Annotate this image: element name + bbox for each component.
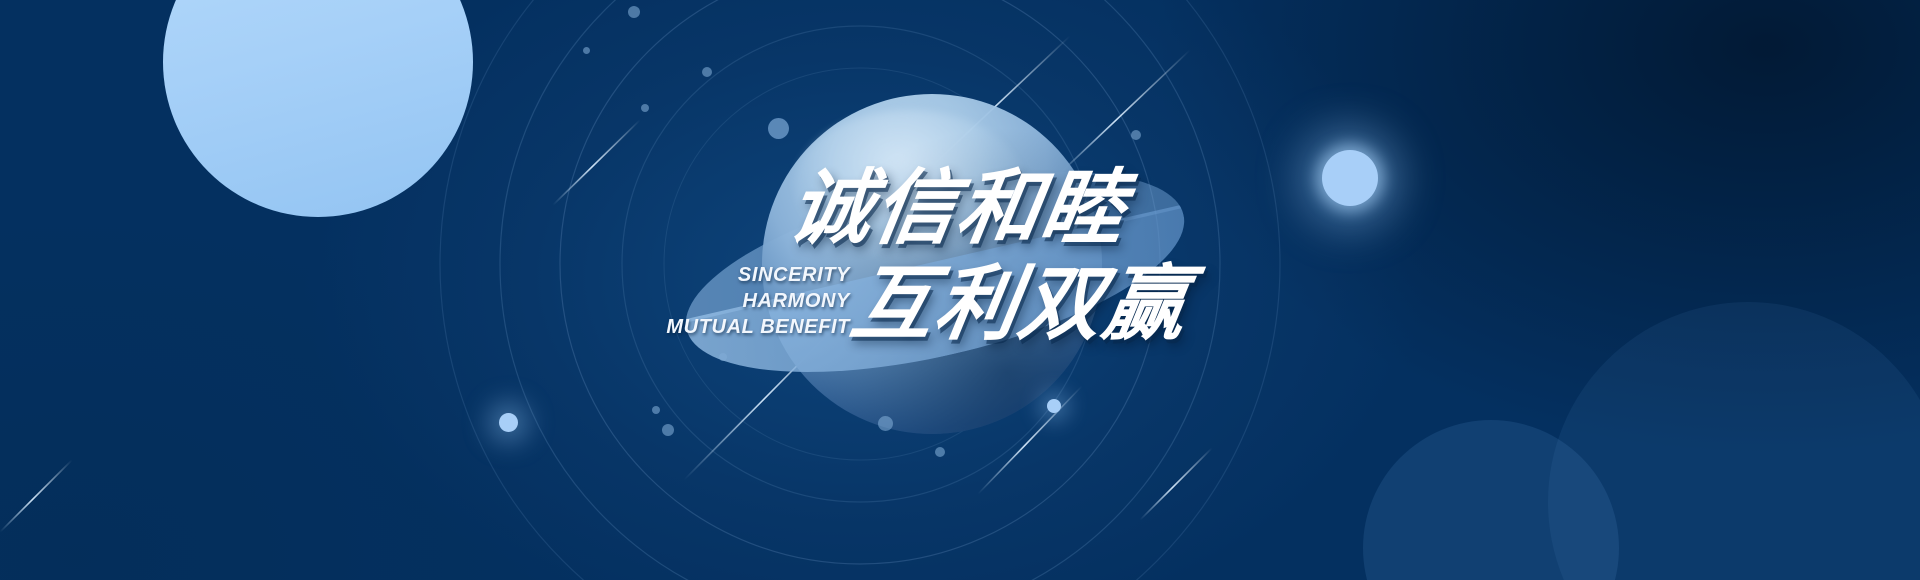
planet-graphic xyxy=(690,70,1170,470)
glow-dot-right xyxy=(1322,150,1378,206)
planet-highlight xyxy=(794,110,1024,260)
orbit-dot xyxy=(641,104,649,112)
orbit-dot xyxy=(583,47,590,54)
orbit-dot xyxy=(662,424,674,436)
orbit-dot xyxy=(652,406,660,414)
orbit-dot xyxy=(935,447,945,457)
orbit-dot xyxy=(1131,130,1141,140)
promo-banner: SINCERITY HARMONY MUTUAL BENEFIT 诚信和睦 互利… xyxy=(0,0,1920,580)
glow-dot-lower xyxy=(1047,399,1061,413)
orbit-dot xyxy=(878,416,893,431)
orbit-dot xyxy=(628,6,640,18)
orbit-dot xyxy=(702,67,712,77)
orbit-dot xyxy=(719,353,727,361)
orbit-dot xyxy=(768,118,789,139)
glow-dot-left xyxy=(499,413,518,432)
